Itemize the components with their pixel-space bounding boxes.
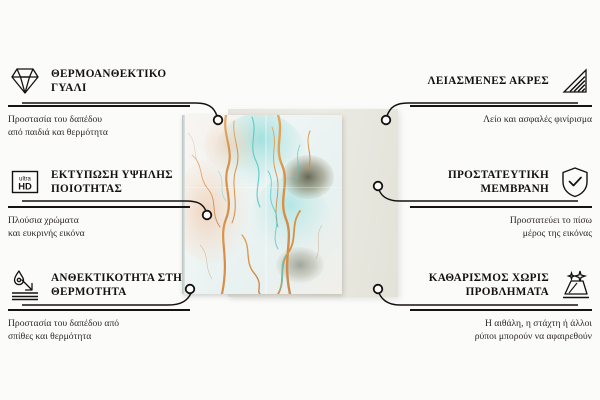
feature-desc-line-2: από παιδιά και θερμότητα xyxy=(8,126,190,140)
feature-desc-line-2: σπίθες και θερμότητα xyxy=(8,330,190,344)
feature-heat-resistant-glass[interactable]: ΘΕΡΜΟΑΝΘΕΚΤΙΚΟ ΓΥΑΛΙ Προστασία του δαπέδ… xyxy=(8,62,190,140)
diamond-icon xyxy=(8,64,42,98)
feature-divider xyxy=(410,206,592,208)
product-image-group xyxy=(182,113,400,296)
feature-desc-line-1: Προστατεύει το πίσω xyxy=(410,214,592,228)
infographic-canvas: ΘΕΡΜΟΑΝΘΕΚΤΙΚΟ ΓΥΑΛΙ Προστασία του δαπέδ… xyxy=(0,0,600,400)
ultra-hd-bottom-text: HD xyxy=(18,180,32,191)
feature-header: ΑΝΘΕΚΤΙΚΟΤΗΤΑ ΣΤΗ ΘΕΡΜΟΤΗΤΑ xyxy=(8,266,190,304)
feature-header: ultra HD ΕΚΤΥΠΩΣΗ ΥΨΗΛΗΣ ΠΟΙΟΤΗΤΑΣ xyxy=(8,163,190,201)
feature-desc-line-2: και ευκρινής εικόνα xyxy=(8,227,190,241)
shield-check-icon xyxy=(558,165,592,199)
product-front-panel xyxy=(182,115,342,294)
feature-heat-durability[interactable]: ΑΝΘΕΚΤΙΚΟΤΗΤΑ ΣΤΗ ΘΕΡΜΟΤΗΤΑ Προστασία το… xyxy=(8,266,190,344)
polished-edges-icon xyxy=(558,64,592,98)
feature-desc-line-1: Λείο και ασφαλές φινίρισμα xyxy=(410,113,592,127)
feature-description: Πλούσια χρώματα και ευκρινής εικόνα xyxy=(8,214,190,241)
feature-description: Λείο και ασφαλές φινίρισμα xyxy=(410,113,592,127)
feature-desc-line-1: Η αιθάλη, η στάχτη ή άλλοι xyxy=(410,317,592,331)
feature-easy-cleaning[interactable]: ΚΑΘΑΡΙΣΜΟΣ ΧΩΡΙΣ ΠΡΟΒΛΗΜΑΤΑ Η αιθάλη, η … xyxy=(410,266,592,344)
feature-divider xyxy=(410,105,592,107)
feature-header: ΘΕΡΜΟΑΝΘΕΚΤΙΚΟ ΓΥΑΛΙ xyxy=(8,62,190,100)
feature-description: Η αιθάλη, η στάχτη ή άλλοι ρύποι μπορούν… xyxy=(410,317,592,344)
ultra-hd-badge-icon: ultra HD xyxy=(8,165,42,199)
feature-title: ΘΕΡΜΟΑΝΘΕΚΤΙΚΟ ΓΥΑΛΙ xyxy=(51,67,190,96)
feature-title: ΑΝΘΕΚΤΙΚΟΤΗΤΑ ΣΤΗ ΘΕΡΜΟΤΗΤΑ xyxy=(51,271,190,300)
feature-description: Προστασία του δαπέδου από παιδιά και θερ… xyxy=(8,113,190,140)
feature-header: ΚΑΘΑΡΙΣΜΟΣ ΧΩΡΙΣ ΠΡΟΒΛΗΜΑΤΑ xyxy=(410,266,592,304)
sparkle-clean-icon xyxy=(558,268,592,302)
feature-desc-line-1: Πλούσια χρώματα xyxy=(8,214,190,228)
feature-description: Προστασία του δαπέδου από σπίθες και θερ… xyxy=(8,317,190,344)
feature-desc-line-1: Προστασία του δαπέδου xyxy=(8,113,190,127)
feature-title: ΛΕΙΑΣΜΕΝΕΣ ΑΚΡΕΣ xyxy=(428,74,549,88)
feature-divider xyxy=(8,206,190,208)
feature-title: ΚΑΘΑΡΙΣΜΟΣ ΧΩΡΙΣ ΠΡΟΒΛΗΜΑΤΑ xyxy=(410,271,549,300)
feature-header: ΛΕΙΑΣΜΕΝΕΣ ΑΚΡΕΣ xyxy=(410,62,592,100)
feature-desc-line-1: Προστασία του δαπέδου από xyxy=(8,317,190,331)
feature-header: ΠΡΟΣΤΑΤΕΥΤΙΚΗ ΜΕΜΒΡΑΝΗ xyxy=(410,163,592,201)
feature-title: ΕΚΤΥΠΩΣΗ ΥΨΗΛΗΣ ΠΟΙΟΤΗΤΑΣ xyxy=(51,168,190,197)
feature-title: ΠΡΟΣΤΑΤΕΥΤΙΚΗ ΜΕΜΒΡΑΝΗ xyxy=(410,168,549,197)
feature-high-quality-print[interactable]: ultra HD ΕΚΤΥΠΩΣΗ ΥΨΗΛΗΣ ΠΟΙΟΤΗΤΑΣ Πλούσ… xyxy=(8,163,190,241)
feature-protective-membrane[interactable]: ΠΡΟΣΤΑΤΕΥΤΙΚΗ ΜΕΜΒΡΑΝΗ Προστατεύει το πί… xyxy=(410,163,592,241)
feature-divider xyxy=(8,309,190,311)
feature-divider xyxy=(8,105,190,107)
flame-heat-resistance-icon xyxy=(8,268,42,302)
feature-desc-line-2: μέρος της εικόνας xyxy=(410,227,592,241)
feature-divider xyxy=(410,309,592,311)
feature-desc-line-2: ρύποι μπορούν να αφαιρεθούν xyxy=(410,330,592,344)
feature-description: Προστατεύει το πίσω μέρος της εικόνας xyxy=(410,214,592,241)
glass-reflection-overlay xyxy=(182,115,342,294)
feature-polished-edges[interactable]: ΛΕΙΑΣΜΕΝΕΣ ΑΚΡΕΣ Λείο και ασφαλές φινίρι… xyxy=(410,62,592,126)
